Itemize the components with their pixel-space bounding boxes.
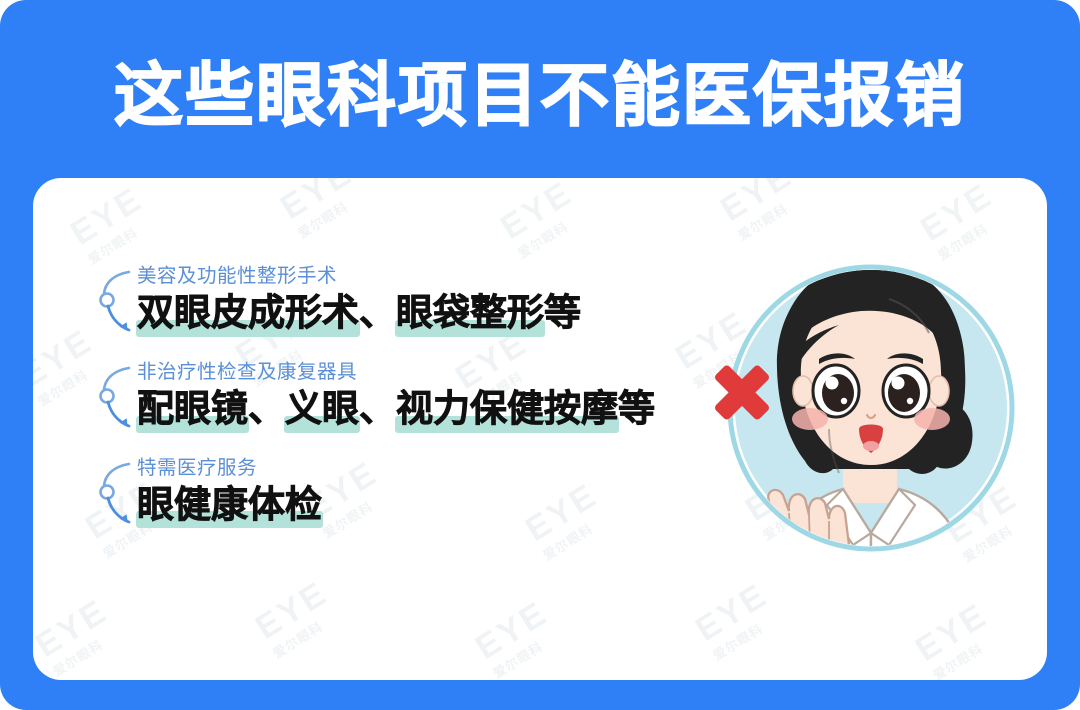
- blush-right: [914, 408, 950, 430]
- highlight-span: 义眼: [285, 388, 359, 429]
- watermark-eye: EYE爱尔眼科: [494, 178, 589, 262]
- list-item-main: 配眼镜、义眼、视力保健按摩等: [137, 388, 715, 429]
- plain-span: 、: [359, 388, 396, 429]
- highlight-span: 视力保健按摩: [396, 388, 618, 429]
- list-item-sublabel: 特需医疗服务: [137, 456, 715, 480]
- main-text-segment: 眼健康体检: [137, 484, 322, 525]
- main-text-segment: 配眼镜、义眼、视力保健按摩等: [137, 388, 655, 429]
- plain-span: 等: [544, 292, 581, 333]
- curved-arrow-icon: [95, 364, 137, 438]
- svg-text:E: E: [931, 550, 942, 567]
- main-text-segment: 双眼皮成形术、眼袋整形等: [137, 292, 581, 333]
- list-item-body: 非治疗性检查及康复器具 配眼镜、义眼、视力保健按摩等: [95, 360, 715, 430]
- page-title: 这些眼科项目不能医保报销: [114, 61, 966, 130]
- svg-text:Y: Y: [920, 550, 931, 567]
- poster-root: 这些眼科项目不能医保报销 EYE爱尔眼科 EYE爱尔眼科 EYE爱尔眼科 EYE…: [0, 0, 1080, 710]
- eye-right: [883, 365, 929, 417]
- highlight-span: 眼健康体检: [137, 484, 322, 525]
- plain-span: 、: [248, 388, 285, 429]
- content-card: EYE爱尔眼科 EYE爱尔眼科 EYE爱尔眼科 EYE爱尔眼科 EYE爱尔眼科 …: [33, 178, 1047, 680]
- eye-left: [813, 365, 859, 417]
- highlight-span: 配眼镜: [137, 388, 248, 429]
- list-item-main: 眼健康体检: [137, 484, 715, 525]
- exclusion-list: 美容及功能性整形手术 双眼皮成形术、眼袋整形等: [95, 264, 715, 525]
- plain-span: 等: [618, 388, 655, 429]
- highlight-span: 双眼皮成形术: [137, 292, 359, 333]
- list-item-sublabel: 美容及功能性整形手术: [137, 264, 715, 288]
- list-item-main: 双眼皮成形术、眼袋整形等: [137, 292, 715, 333]
- stop-hand: [768, 490, 852, 593]
- list-item: 非治疗性检查及康复器具 配眼镜、义眼、视力保健按摩等: [95, 360, 715, 430]
- watermark-eye: EYE爱尔眼科: [249, 574, 344, 662]
- watermark-eye: EYE爱尔眼科: [33, 592, 124, 680]
- list-item-body: 特需医疗服务 眼健康体检: [95, 456, 715, 526]
- svg-text:E: E: [909, 550, 920, 567]
- watermark-eye: EYE爱尔眼科: [469, 594, 564, 680]
- doctor-illustration: E Y E: [693, 233, 1023, 593]
- list-item-sublabel: 非治疗性检查及康复器具: [137, 360, 715, 384]
- highlight-span: 眼袋整形: [396, 292, 544, 333]
- title-bar: 这些眼科项目不能医保报销: [0, 40, 1080, 150]
- list-item: 特需医疗服务 眼健康体检: [95, 456, 715, 526]
- list-item-body: 美容及功能性整形手术 双眼皮成形术、眼袋整形等: [95, 264, 715, 334]
- plain-span: 、: [359, 292, 396, 333]
- curved-arrow-icon: [95, 460, 137, 534]
- watermark-eye: EYE爱尔眼科: [909, 596, 1004, 680]
- coat-eye-badge: E Y E: [909, 550, 942, 567]
- list-item: 美容及功能性整形手术 双眼皮成形术、眼袋整形等: [95, 264, 715, 334]
- blush-left: [792, 408, 828, 430]
- watermark-eye: EYE爱尔眼科: [64, 180, 159, 268]
- watermark-eye: EYE爱尔眼科: [274, 178, 369, 242]
- curved-arrow-icon: [95, 268, 137, 342]
